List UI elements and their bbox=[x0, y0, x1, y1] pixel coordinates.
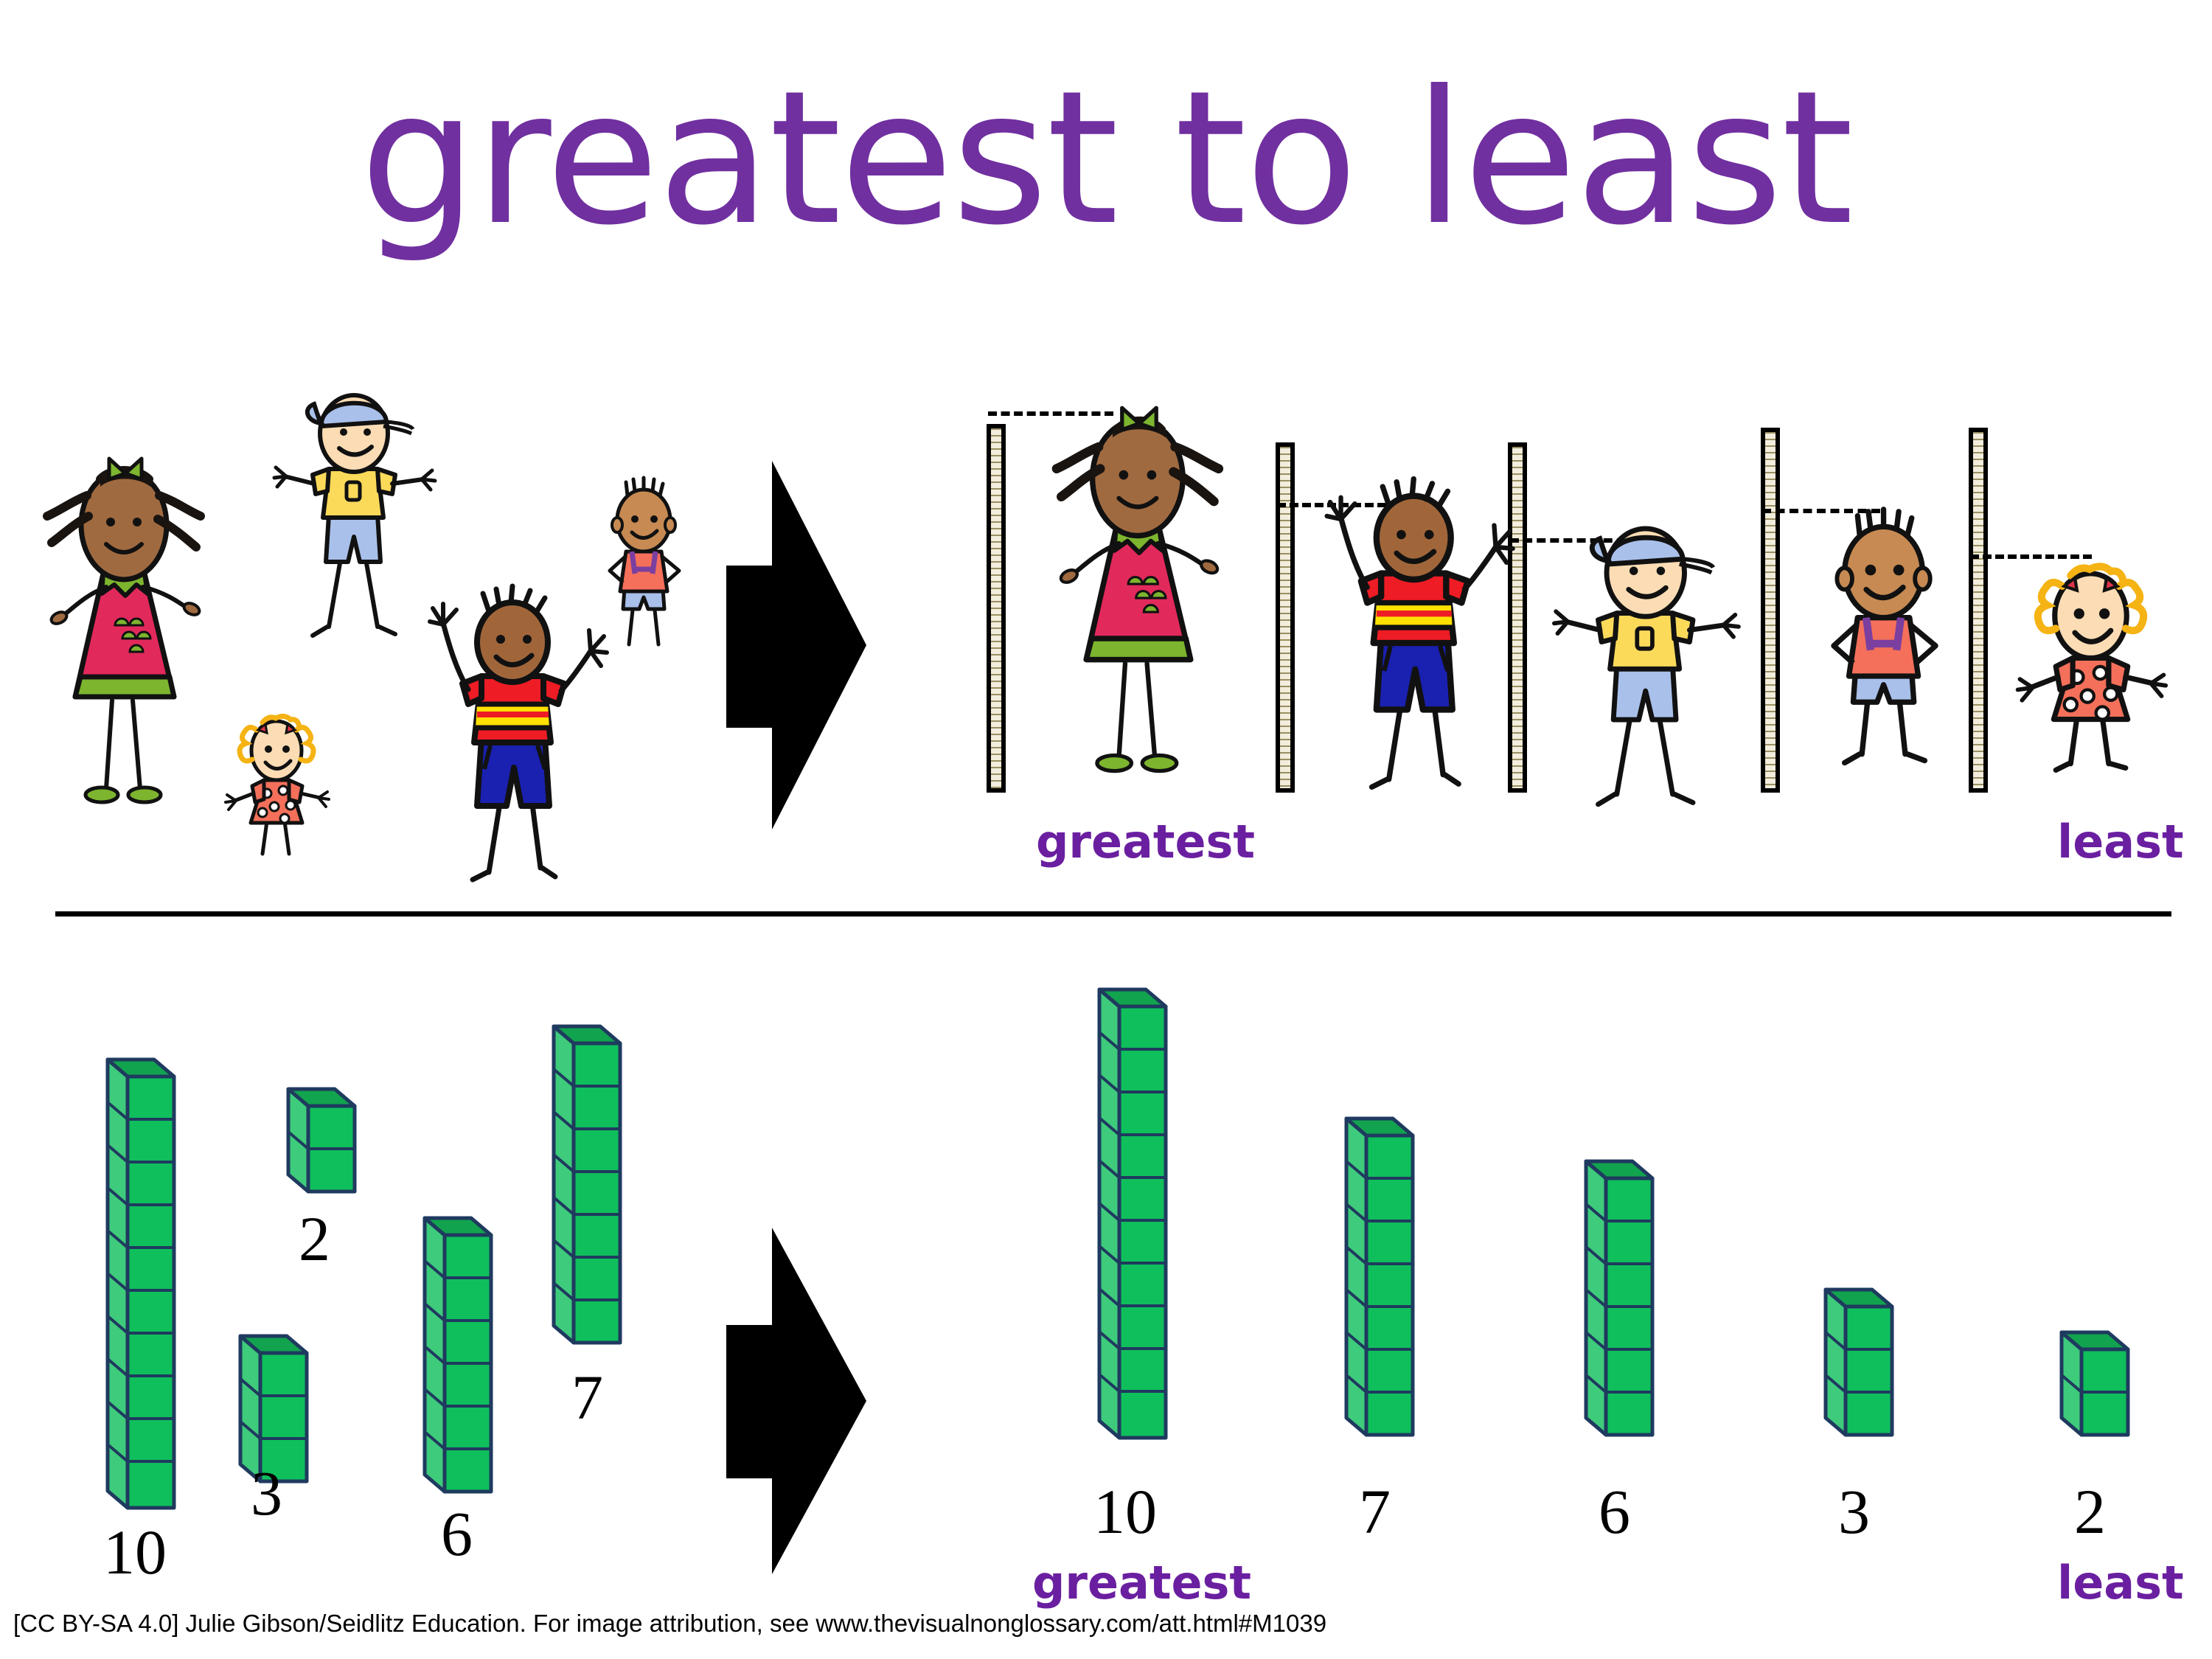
child-boy-cap-sorted bbox=[1552, 524, 1747, 811]
tower-unsorted-10 bbox=[103, 1051, 181, 1512]
child-boy-striped-sorted bbox=[1320, 487, 1515, 796]
caption-greatest-people: greatest bbox=[1036, 815, 1255, 869]
tower-label-sorted-2: 2 bbox=[2074, 1475, 2106, 1548]
tower-unsorted-2 bbox=[284, 1080, 361, 1198]
tower-unsorted-7 bbox=[549, 1018, 627, 1349]
tower-sorted-2 bbox=[2057, 1324, 2135, 1441]
child-boy-striped-unsorted bbox=[424, 594, 608, 888]
child-boy-overalls-sorted bbox=[1799, 490, 1972, 793]
child-girl-braids-sorted bbox=[1032, 391, 1246, 804]
ruler-1 bbox=[987, 424, 1006, 793]
tower-unsorted-6 bbox=[420, 1209, 498, 1498]
tower-label-sorted-3: 3 bbox=[1838, 1475, 1870, 1548]
child-girl-blonde-unsorted bbox=[221, 708, 332, 863]
tower-label-sorted-6: 6 bbox=[1599, 1475, 1630, 1548]
caption-least-people: least bbox=[2057, 815, 2184, 869]
tower-label-unsorted-10: 10 bbox=[103, 1515, 167, 1589]
tower-sorted-7 bbox=[1342, 1110, 1419, 1441]
child-girl-braids-unsorted bbox=[29, 442, 221, 833]
ruler-2 bbox=[1276, 442, 1295, 793]
sort-arrow-people bbox=[726, 461, 866, 837]
tower-sorted-6 bbox=[1582, 1152, 1659, 1441]
tower-label-sorted-10: 10 bbox=[1093, 1475, 1157, 1548]
child-girl-blonde-sorted bbox=[2011, 538, 2170, 793]
tower-label-unsorted-7: 7 bbox=[571, 1360, 603, 1434]
caption-least-cubes: least bbox=[2057, 1556, 2184, 1610]
sort-arrow-cubes bbox=[726, 1228, 866, 1582]
tower-label-unsorted-3: 3 bbox=[251, 1456, 282, 1530]
child-boy-cap-unsorted bbox=[273, 391, 442, 641]
tower-label-unsorted-6: 6 bbox=[441, 1497, 473, 1571]
ruler-4 bbox=[1761, 428, 1780, 793]
page-title: greatest to least bbox=[0, 66, 2212, 251]
tower-label-unsorted-2: 2 bbox=[299, 1202, 330, 1276]
attribution-text: [CC BY-SA 4.0] Julie Gibson/Seidlitz Edu… bbox=[13, 1610, 1326, 1638]
caption-greatest-cubes: greatest bbox=[1032, 1556, 1251, 1610]
section-divider bbox=[55, 911, 2171, 917]
tower-sorted-10 bbox=[1095, 981, 1172, 1441]
tower-label-sorted-7: 7 bbox=[1359, 1475, 1391, 1548]
tower-sorted-3 bbox=[1821, 1281, 1899, 1441]
